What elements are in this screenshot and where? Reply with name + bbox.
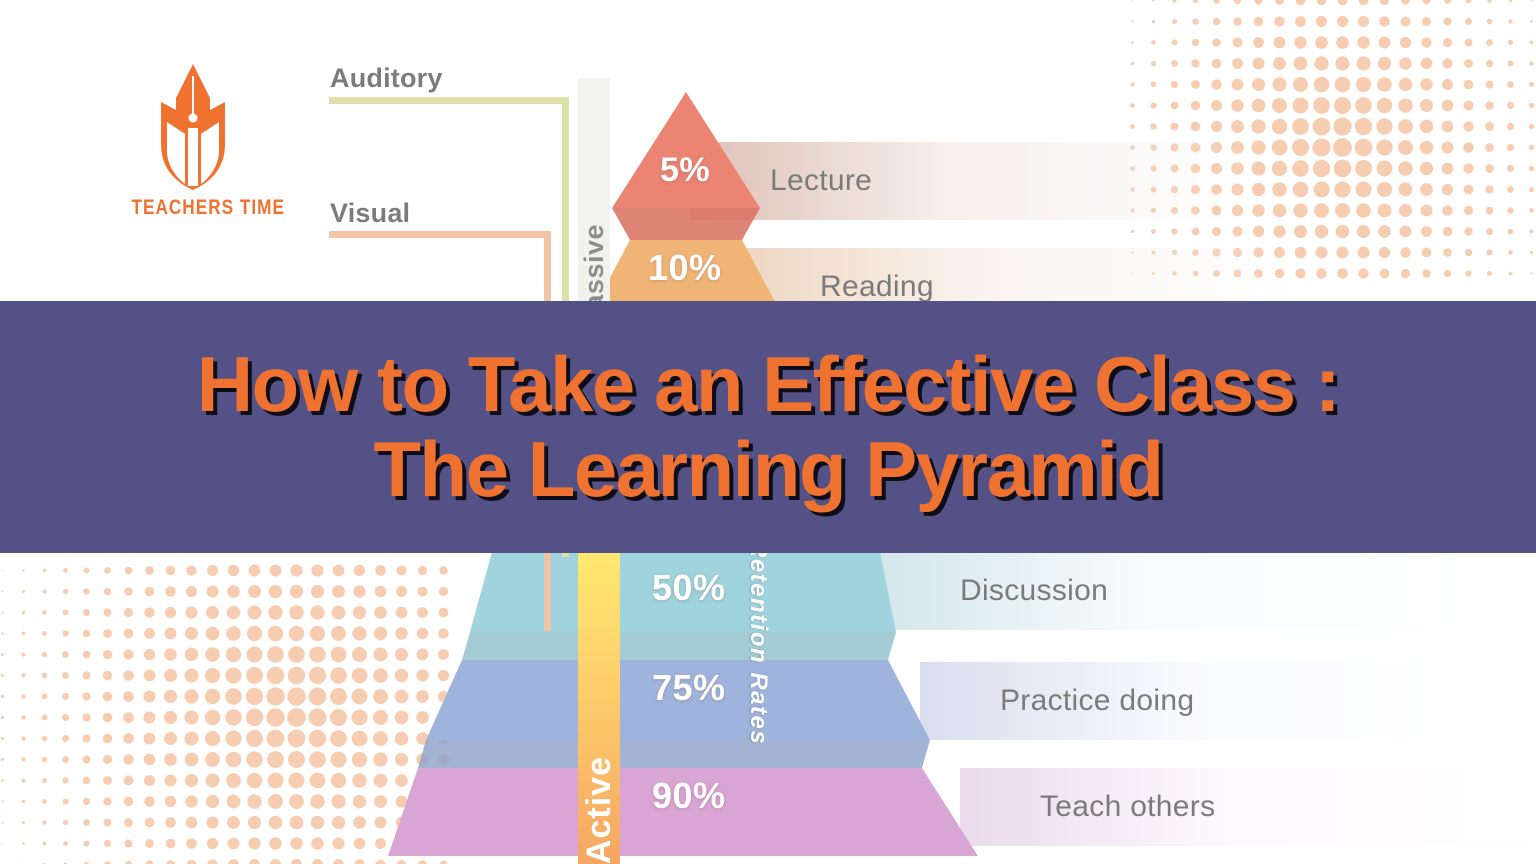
page-title-line-2: The Learning Pyramid	[373, 428, 1162, 511]
poster-canvas: Lecture Reading Audio visual Demonstrati…	[0, 0, 1536, 864]
bracket-visual	[329, 231, 551, 238]
modality-label-auditory: Auditory	[330, 63, 443, 94]
page-title-line-1: How to Take an Effective Class :	[197, 343, 1340, 426]
tier-value-lecture: 5%	[590, 140, 770, 200]
modality-label-visual: Visual	[330, 198, 410, 229]
brand-wordmark: TEACHERS TIME	[132, 196, 255, 220]
tier-side-discussion	[462, 632, 896, 660]
title-banner: How to Take an Effective Class : The Lea…	[0, 301, 1536, 553]
engagement-label-active: Active	[578, 552, 620, 864]
retention-rates-axis-caption: Retention Rates	[744, 540, 772, 840]
tier-side-lecture	[612, 208, 760, 240]
bracket-auditory	[329, 97, 569, 104]
pen-nib-shield-icon	[147, 62, 239, 192]
brand-logo: TEACHERS TIME	[118, 62, 268, 220]
tier-side-practice-doing	[418, 740, 930, 768]
tier-value-reading: 10%	[590, 238, 790, 298]
